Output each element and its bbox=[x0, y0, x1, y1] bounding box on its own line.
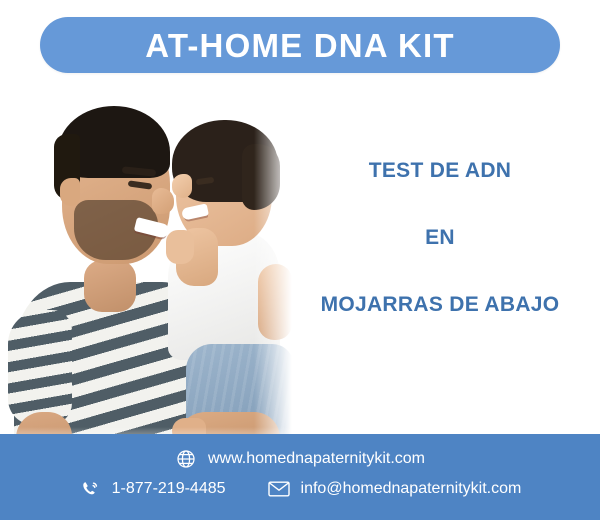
email-link[interactable]: info@homednapaternitykit.com bbox=[268, 478, 522, 500]
headline-line-3: MOJARRAS DE ABAJO bbox=[296, 294, 584, 315]
globe-icon bbox=[175, 448, 197, 470]
page-title: AT-HOME DNA KIT bbox=[145, 29, 454, 62]
website-link[interactable]: www.homednapaternitykit.com bbox=[175, 448, 425, 470]
phone-label: 1-877-219-4485 bbox=[112, 481, 226, 497]
phone-link[interactable]: 1-877-219-4485 bbox=[79, 478, 226, 500]
headline-line-2: EN bbox=[296, 227, 584, 248]
footer-website-row: www.homednapaternitykit.com bbox=[0, 448, 600, 470]
footer-contact-row: 1-877-219-4485 info@homednapaternitykit.… bbox=[0, 478, 600, 500]
footer-bar: www.homednapaternitykit.com 1-877-219-44… bbox=[0, 434, 600, 520]
header-banner: AT-HOME DNA KIT bbox=[40, 17, 560, 73]
child-hand bbox=[166, 230, 194, 264]
phone-icon bbox=[79, 478, 101, 500]
website-label: www.homednapaternitykit.com bbox=[208, 451, 425, 467]
father-neck bbox=[84, 260, 136, 312]
headline-block: TEST DE ADN EN MOJARRAS DE ABAJO bbox=[296, 160, 584, 315]
envelope-icon bbox=[268, 478, 290, 500]
email-label: info@homednapaternitykit.com bbox=[301, 481, 522, 497]
headline-line-1: TEST DE ADN bbox=[296, 160, 584, 181]
child-nose bbox=[172, 174, 192, 198]
poster-canvas: AT-HOME DNA KIT TEST D bbox=[0, 0, 600, 520]
father-sleeve bbox=[8, 310, 72, 425]
photo-fade-right bbox=[254, 82, 300, 457]
family-photo bbox=[0, 82, 300, 457]
father-ear bbox=[60, 178, 80, 206]
father-nose bbox=[152, 188, 174, 214]
